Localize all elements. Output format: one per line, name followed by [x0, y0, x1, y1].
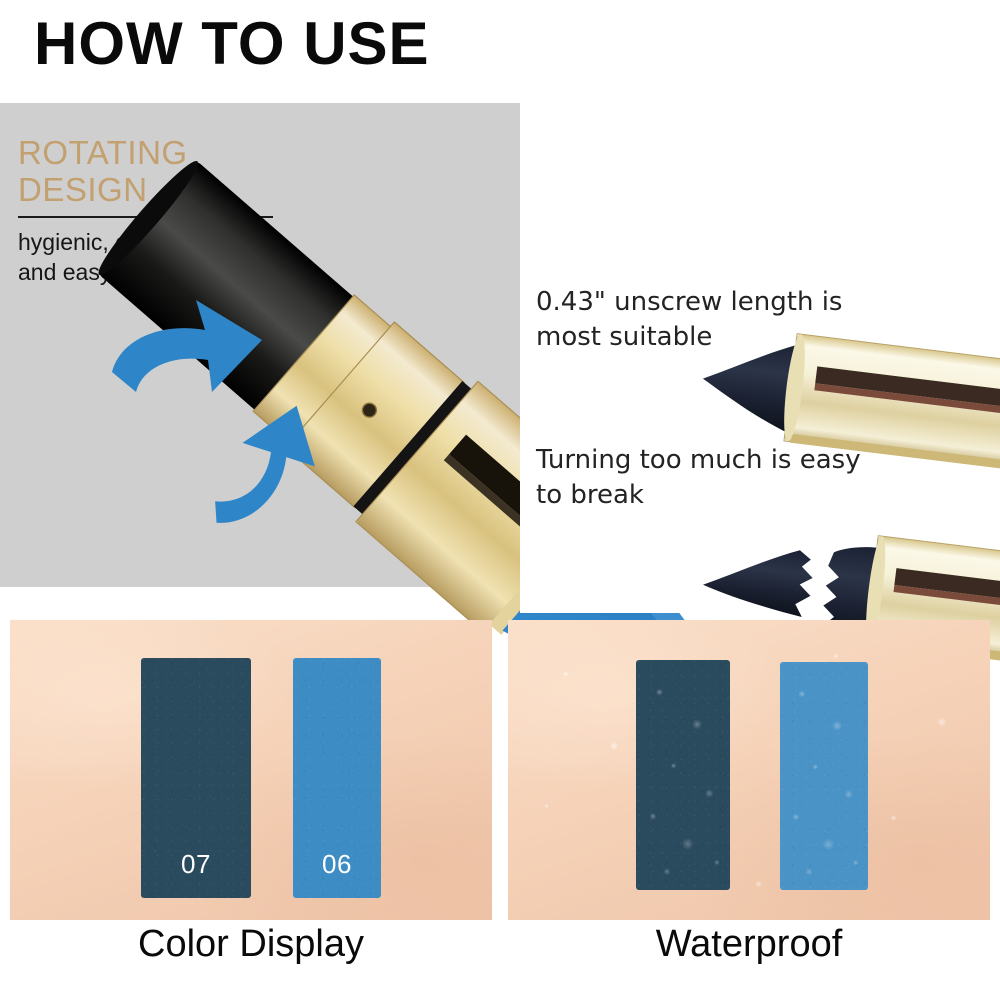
- skin-background: [10, 620, 492, 920]
- broken-tip-fragment: [701, 539, 816, 618]
- swatch-06: 06: [293, 658, 381, 898]
- infographic-page: HOW TO USE ROTATING DESIGN hygienic, com…: [0, 0, 1000, 1000]
- caption-color-display: Color Display: [10, 925, 492, 963]
- waterproof-panel: [508, 620, 990, 920]
- subtext-line-1: hygienic, compact: [18, 227, 318, 257]
- heading-line-2: DESIGN: [18, 172, 318, 209]
- heading-divider: [18, 216, 273, 218]
- swatch-texture: [780, 662, 868, 890]
- swatch-label: 06: [293, 849, 381, 880]
- color-display-panel: 07 06: [10, 620, 492, 920]
- rotating-design-panel: ROTATING DESIGN hygienic, compact and ea…: [0, 103, 520, 587]
- swatch-07: 07: [141, 658, 251, 898]
- swatch-texture: [636, 660, 730, 890]
- rotating-design-subtext: hygienic, compact and easy to carry: [18, 227, 318, 288]
- swatch-06-wet: [780, 662, 868, 890]
- swatch-label: 07: [141, 849, 251, 880]
- caption-waterproof: Waterproof: [508, 925, 990, 963]
- wet-skin-background: [508, 620, 990, 920]
- rotating-design-heading: ROTATING DESIGN: [18, 135, 318, 209]
- heading-line-1: ROTATING: [18, 135, 318, 172]
- page-title: HOW TO USE: [34, 14, 430, 74]
- subtext-line-2: and easy to carry: [18, 257, 318, 287]
- swatch-07-wet: [636, 660, 730, 890]
